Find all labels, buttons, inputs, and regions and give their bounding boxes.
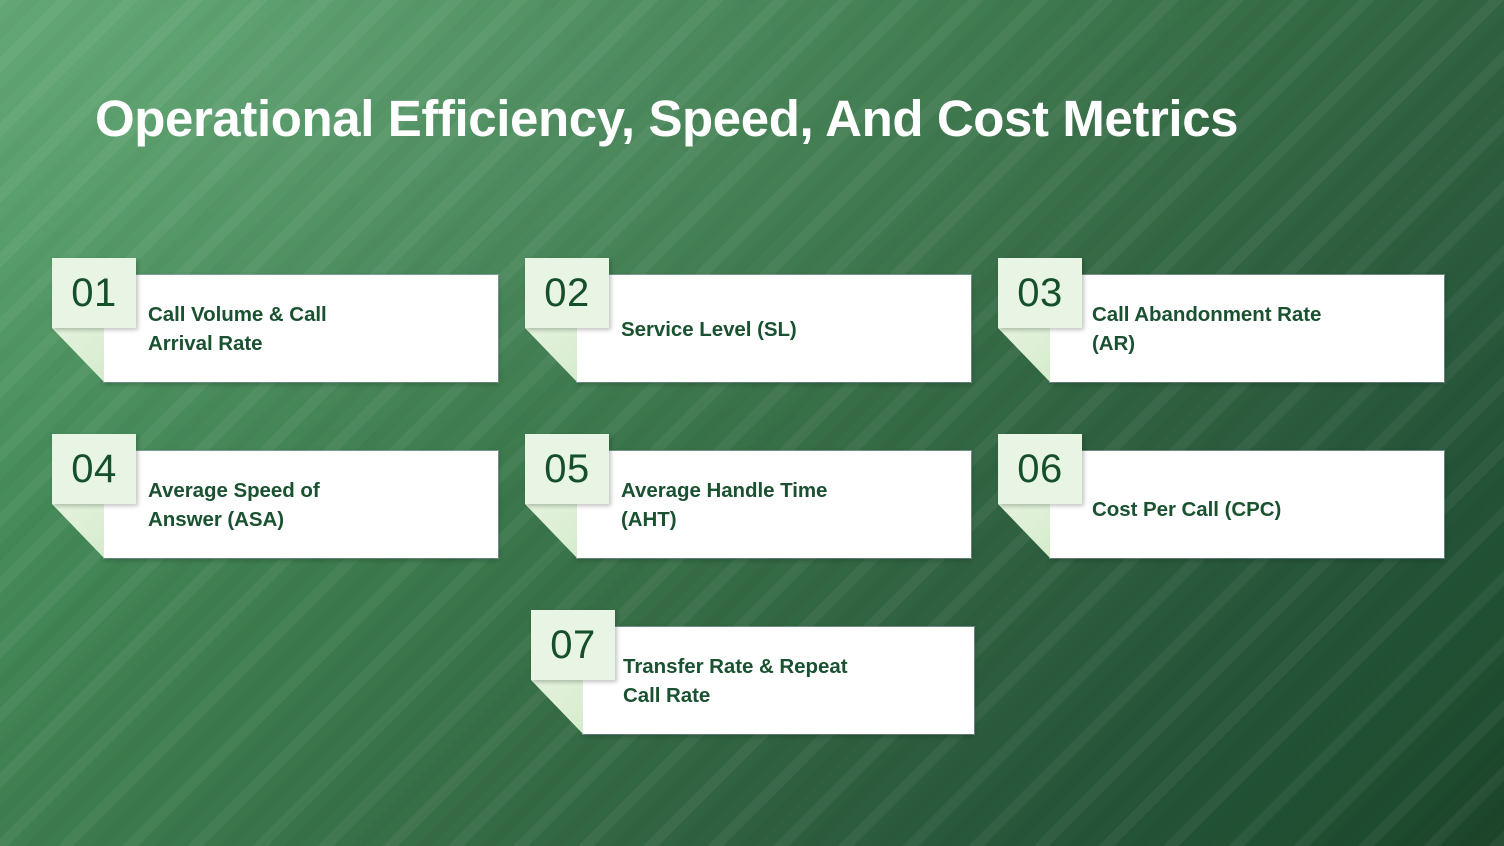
card-label: Service Level (SL) (621, 315, 971, 344)
card-fold-corner (531, 680, 583, 734)
card-number-tab: 03 (998, 258, 1082, 328)
card-label: Transfer Rate & Repeat Call Rate (623, 652, 974, 710)
card-number: 03 (1017, 273, 1063, 313)
card-fold-corner (525, 328, 577, 382)
card-label: Call Volume & Call Arrival Rate (148, 300, 498, 358)
card-fold-corner (998, 504, 1050, 558)
card-panel: Service Level (SL) (577, 275, 971, 382)
card-fold-corner (52, 328, 104, 382)
card-panel: Call Abandonment Rate (AR) (1050, 275, 1444, 382)
card-panel: Transfer Rate & Repeat Call Rate (583, 627, 974, 734)
card-number-tab: 07 (531, 610, 615, 680)
card-label: Call Abandonment Rate (AR) (1092, 300, 1444, 358)
card-label: Average Speed of Answer (ASA) (148, 476, 498, 534)
card-panel: Cost Per Call (CPC) (1050, 451, 1444, 558)
card-number-tab: 01 (52, 258, 136, 328)
card-number: 06 (1017, 449, 1063, 489)
card-number-tab: 06 (998, 434, 1082, 504)
slide-canvas: Operational Efficiency, Speed, And Cost … (0, 0, 1504, 846)
card-panel: Average Speed of Answer (ASA) (104, 451, 498, 558)
card-fold-corner (998, 328, 1050, 382)
card-number: 07 (550, 625, 596, 665)
card-number-tab: 02 (525, 258, 609, 328)
card-label: Cost Per Call (CPC) (1092, 495, 1444, 524)
card-number-tab: 04 (52, 434, 136, 504)
card-number-tab: 05 (525, 434, 609, 504)
card-number: 04 (71, 449, 117, 489)
card-panel: Average Handle Time (AHT) (577, 451, 971, 558)
card-fold-corner (52, 504, 104, 558)
card-panel: Call Volume & Call Arrival Rate (104, 275, 498, 382)
card-number: 02 (544, 273, 590, 313)
card-fold-corner (525, 504, 577, 558)
card-number: 01 (71, 273, 117, 313)
card-label: Average Handle Time (AHT) (621, 476, 971, 534)
card-number: 05 (544, 449, 590, 489)
page-title: Operational Efficiency, Speed, And Cost … (95, 90, 1435, 147)
